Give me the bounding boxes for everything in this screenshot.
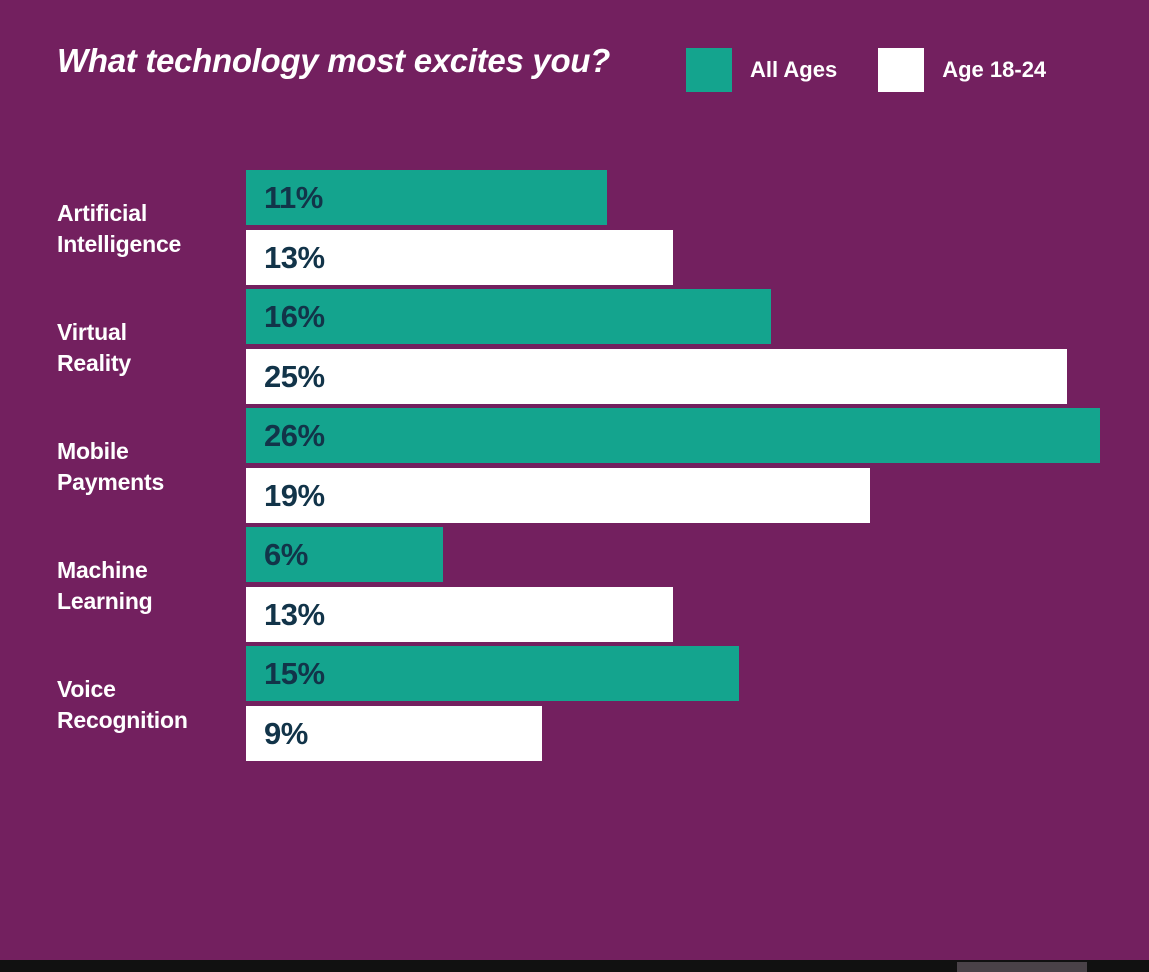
bar-all-ages[interactable]: 16% [246, 289, 771, 344]
bar-group: VoiceRecognition15%9% [0, 646, 1149, 765]
infographic-canvas: What technology most excites you? All Ag… [0, 0, 1149, 972]
bar-value-label: 9% [264, 716, 308, 752]
bar-pair: 15%9% [246, 646, 1149, 765]
bar-pair: 11%13% [246, 170, 1149, 289]
bottom-strip-highlight [957, 962, 1087, 972]
category-label-line: Voice [57, 674, 242, 705]
bar-value-label: 16% [264, 299, 325, 335]
bar-group: MachineLearning6%13% [0, 527, 1149, 646]
legend-label-all-ages: All Ages [750, 57, 837, 83]
bar-pair: 26%19% [246, 408, 1149, 527]
bar-value-label: 6% [264, 537, 308, 573]
bar-all-ages[interactable]: 15% [246, 646, 739, 701]
category-label: MachineLearning [57, 555, 242, 617]
bar-value-label: 15% [264, 656, 325, 692]
category-label-line: Payments [57, 467, 242, 498]
bar-age-18-24[interactable]: 19% [246, 468, 870, 523]
bar-age-18-24[interactable]: 13% [246, 230, 673, 285]
category-label-line: Artificial [57, 198, 242, 229]
bar-value-label: 11% [264, 180, 323, 216]
legend-spacer [837, 70, 878, 71]
bar-value-label: 26% [264, 418, 325, 454]
bar-group: VirtualReality16%25% [0, 289, 1149, 408]
category-label-line: Mobile [57, 436, 242, 467]
category-label-line: Learning [57, 586, 242, 617]
bar-value-label: 13% [264, 597, 325, 633]
category-label: VirtualReality [57, 317, 242, 379]
category-label-line: Intelligence [57, 229, 242, 260]
page-title: What technology most excites you? [57, 42, 610, 80]
bar-group: MobilePayments26%19% [0, 408, 1149, 527]
bar-all-ages[interactable]: 26% [246, 408, 1100, 463]
category-label-line: Reality [57, 348, 242, 379]
legend-item-all-ages[interactable]: All Ages [686, 48, 837, 92]
bar-value-label: 13% [264, 240, 325, 276]
category-label: MobilePayments [57, 436, 242, 498]
category-label: VoiceRecognition [57, 674, 242, 736]
category-label: ArtificialIntelligence [57, 198, 242, 260]
bar-pair: 16%25% [246, 289, 1149, 408]
bar-all-ages[interactable]: 6% [246, 527, 443, 582]
category-label-line: Machine [57, 555, 242, 586]
legend-item-age-18-24[interactable]: Age 18-24 [878, 48, 1046, 92]
chart-legend: All Ages Age 18-24 [686, 48, 1046, 92]
bar-age-18-24[interactable]: 25% [246, 349, 1067, 404]
bar-chart-plot-area: ArtificialIntelligence11%13%VirtualReali… [0, 120, 1149, 935]
category-label-line: Recognition [57, 705, 242, 736]
bar-value-label: 19% [264, 478, 325, 514]
bar-age-18-24[interactable]: 13% [246, 587, 673, 642]
category-label-line: Virtual [57, 317, 242, 348]
bar-age-18-24[interactable]: 9% [246, 706, 542, 761]
bar-value-label: 25% [264, 359, 325, 395]
bar-pair: 6%13% [246, 527, 1149, 646]
bar-all-ages[interactable]: 11% [246, 170, 607, 225]
chart-header: What technology most excites you? All Ag… [0, 0, 1149, 120]
legend-swatch-age-18-24-icon [878, 48, 924, 92]
legend-label-age-18-24: Age 18-24 [942, 57, 1046, 83]
legend-swatch-all-ages-icon [686, 48, 732, 92]
bar-group: ArtificialIntelligence11%13% [0, 170, 1149, 289]
